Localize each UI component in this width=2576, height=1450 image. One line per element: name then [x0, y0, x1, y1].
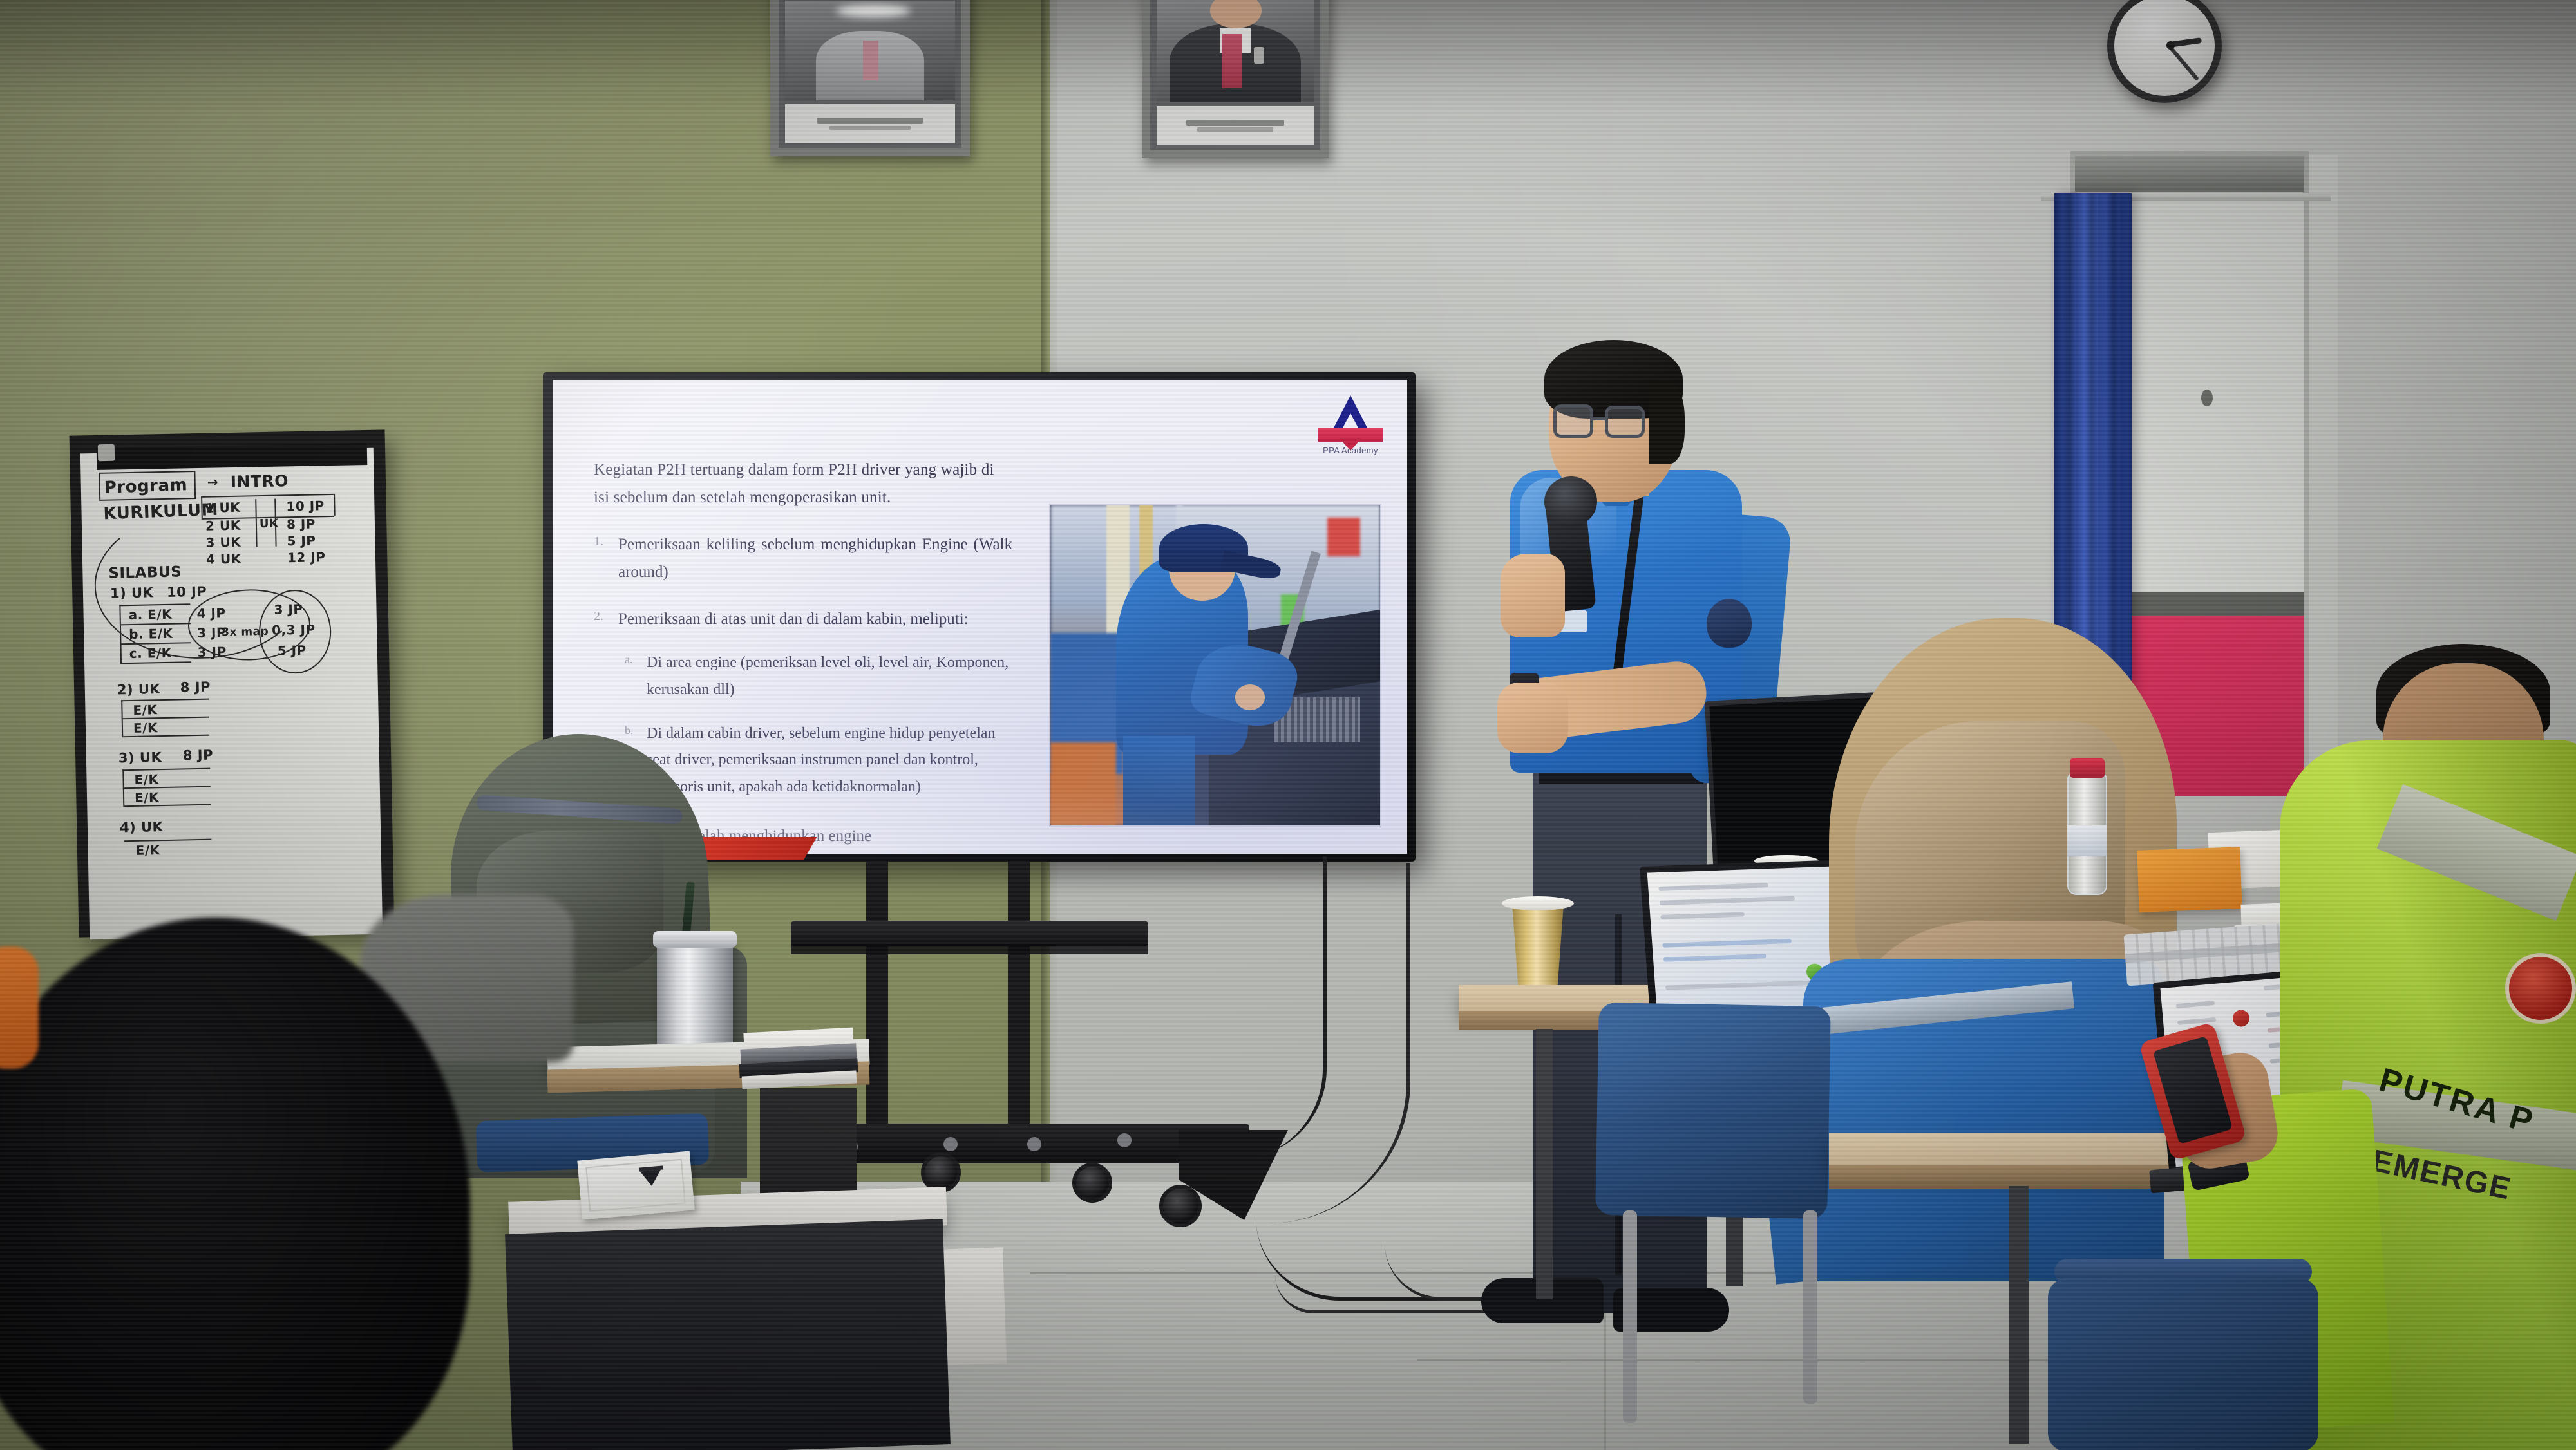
flipchart-heading-intro: INTRO: [230, 471, 289, 491]
portrait-photo: [1157, 0, 1314, 102]
tv-trolley-post: [866, 862, 888, 1145]
name-card-logo-icon: [640, 1170, 662, 1187]
portrait-tie: [863, 41, 878, 80]
table-leg: [2009, 1186, 2029, 1444]
flipchart-clip-tab: [98, 444, 115, 461]
chair-backrest[interactable]: [2048, 1278, 2318, 1450]
presentation-slide: PPA Academy Kegiatan P2H tertuang dalam …: [553, 380, 1407, 854]
chair-backrest[interactable]: [1595, 1003, 1831, 1219]
flipchart-item: E/K: [133, 702, 157, 718]
list-text: Pemeriksaan di atas unit dan di dalam ka…: [618, 605, 1012, 633]
flipchart-item: 4) UK: [120, 819, 164, 835]
door-knob-icon[interactable]: [2201, 390, 2213, 406]
presenter-hand-holding-mic: [1501, 554, 1565, 637]
flipchart-item-val: 8 JP: [180, 679, 211, 695]
flipchart-heading-program: Program: [104, 475, 187, 498]
flipchart-item: E/K: [135, 789, 159, 805]
glass-glare: [836, 5, 911, 17]
orange-box[interactable]: [2137, 847, 2242, 912]
nameplate-line: [817, 118, 923, 124]
tv-screen[interactable]: PPA Academy Kegiatan P2H tertuang dalam …: [553, 380, 1407, 854]
portrait-tie: [1222, 34, 1241, 88]
presenter-glasses-bridge: [1593, 417, 1605, 420]
tv-trolley-post: [1008, 862, 1030, 1145]
flipchart-circle-note: 5 JP: [277, 643, 306, 659]
trolley-caster-wheel: [1072, 1163, 1112, 1203]
wall-portrait-left: [770, 0, 970, 156]
clock-center-pin: [2166, 41, 2175, 50]
flipchart-item: 3) UK: [118, 749, 162, 766]
flipchart-item: b. E/K: [129, 626, 173, 642]
cup-rim: [1502, 896, 1574, 910]
presenter-glasses-left-lens: [1553, 404, 1593, 438]
flipchart-paper: Program KURIKULUM → INTRO 1 UK 10 JP 2 U…: [80, 448, 383, 940]
slide-numbered-item: 2. Pemeriksaan di atas unit dan di dalam…: [594, 605, 1012, 633]
slide-sub-item: a. Di area engine (pemeriksan level oli,…: [625, 650, 1012, 704]
flipchart-item: E/K: [134, 771, 158, 787]
flipchart-circle-note: 0,3 JP: [272, 621, 316, 637]
flipchart-item-val: 8 JP: [183, 748, 214, 764]
ppa-academy-logo: PPA Academy: [1312, 394, 1389, 464]
list-marker: a.: [625, 650, 638, 704]
slide-lead-paragraph: Kegiatan P2H tertuang dalam form P2H dri…: [594, 456, 1012, 511]
slide-sub-item: b. Di dalam cabin driver, sebelum engine…: [625, 720, 1012, 801]
list-marker: 1.: [594, 531, 608, 586]
name-card-border: [585, 1159, 686, 1212]
portrait-nameplate: [785, 104, 955, 143]
slide-numbered-item: 1. Pemeriksaan keliling sebelum menghidu…: [594, 531, 1012, 586]
flipchart-item: E/K: [135, 842, 160, 858]
wall-portrait-right: [1142, 0, 1329, 158]
photo-mechanic-leg: [1123, 736, 1196, 825]
flipchart-circle-note: 3 JP: [274, 601, 303, 617]
bottle-label: [2067, 825, 2107, 856]
presenter-hand-holding-clicker: [1497, 683, 1568, 753]
table-leg: [1536, 1029, 1553, 1299]
flipchart-item: E/K: [133, 720, 158, 736]
list-text: Di dalam cabin driver, sebelum engine hi…: [647, 720, 1012, 801]
trolley-bolt: [1117, 1133, 1132, 1147]
flipchart-item: 1) UK: [110, 585, 154, 601]
foreground-table-body: [505, 1219, 951, 1450]
tv-trolley-shelf: [791, 921, 1148, 946]
photo-orange-object: [1050, 742, 1116, 825]
door-mid-rail: [2125, 592, 2304, 616]
nameplate-line: [829, 126, 911, 130]
trolley-bolt: [943, 1137, 958, 1151]
flipchart-row-jp: 8 JP: [287, 516, 316, 532]
tv-trolley-shelf-lip: [791, 944, 1148, 954]
chair-leg: [1803, 1210, 1817, 1404]
bottle-cap[interactable]: [2070, 758, 2105, 778]
nameplate-line: [1197, 127, 1273, 132]
clock-minute-hand: [2167, 44, 2199, 81]
trolley-caster-wheel: [1159, 1185, 1202, 1227]
flipchart-item: c. E/K: [129, 645, 172, 661]
portrait-photo: [785, 1, 955, 100]
slide-photo-mechanic: [1049, 504, 1381, 827]
list-text: Di area engine (pemeriksan level oli, le…: [647, 650, 1012, 704]
flipchart-arrow: →: [207, 474, 218, 489]
logo-wordmark: PPA Academy: [1312, 446, 1389, 455]
door-transom-window: [2075, 156, 2304, 192]
tumbler-lid[interactable]: [653, 931, 737, 948]
nameplate-line: [1186, 120, 1283, 126]
portrait-nameplate: [1157, 106, 1314, 145]
presenter-glasses-right-lens: [1605, 406, 1645, 438]
flipchart-row-jp: 10 JP: [286, 498, 325, 514]
flipchart-item: a. E/K: [128, 607, 172, 623]
photo-red-object: [1327, 518, 1360, 556]
presenter-shoulder-patch: [1707, 599, 1752, 648]
foreground-orange-object: [0, 946, 39, 1069]
list-marker: 2.: [594, 605, 608, 633]
chair-leg: [1623, 1210, 1637, 1423]
door-upper-panel: [2125, 193, 2304, 592]
photo-mechanic-hand: [1235, 684, 1265, 710]
presenter-hair-side: [1649, 380, 1685, 464]
flipchart-section-silabus: SILABUS: [108, 563, 182, 581]
trolley-bolt: [1027, 1137, 1041, 1151]
flipchart-item-val: 10 JP: [167, 584, 207, 600]
classroom-photo-scene: Program KURIKULUM → INTRO 1 UK 10 JP 2 U…: [0, 0, 2576, 1450]
list-text: Pemeriksaan keliling sebelum menghidupka…: [618, 531, 1012, 586]
jacket-company-logo: [2505, 953, 2576, 1024]
portrait-lapel-pin: [1254, 47, 1264, 64]
flipchart-item: 2) UK: [117, 681, 161, 697]
